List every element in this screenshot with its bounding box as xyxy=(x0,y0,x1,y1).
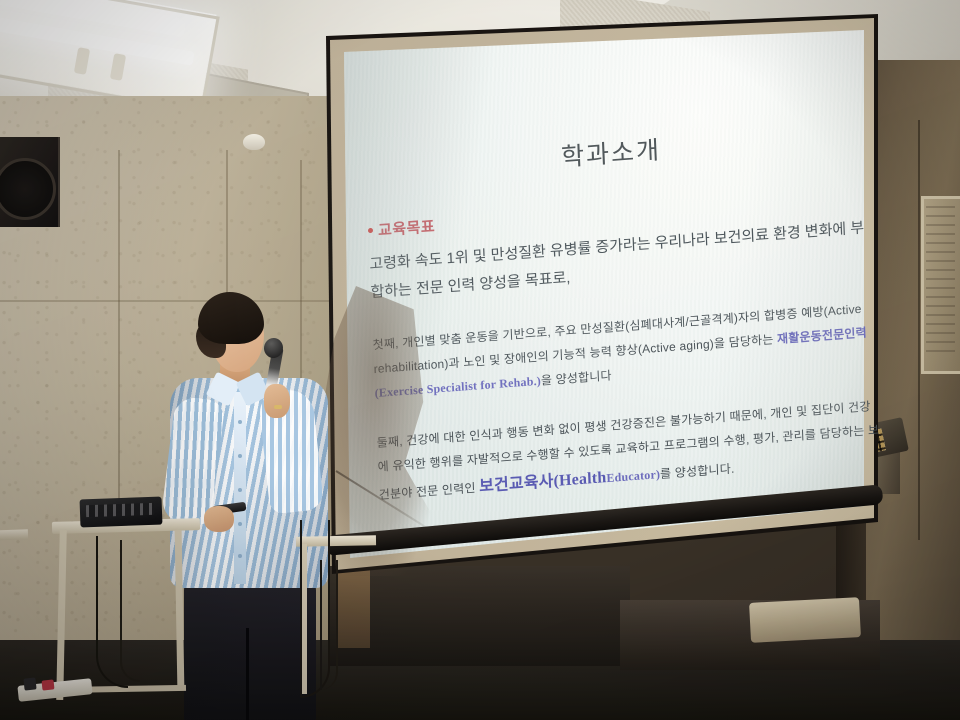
power-plug[interactable] xyxy=(23,677,36,690)
screen-lighting-vignette xyxy=(318,14,878,574)
side-table xyxy=(0,529,28,540)
shirt-button xyxy=(238,522,242,526)
mixer-controls[interactable] xyxy=(86,503,154,517)
power-plug[interactable] xyxy=(42,679,55,690)
shirt-button xyxy=(238,420,242,424)
dome-camera-icon xyxy=(243,134,265,150)
wall-seam xyxy=(918,120,920,540)
trousers xyxy=(184,580,316,720)
finger-ring xyxy=(274,405,282,409)
lecture-room-photo: 학과소개 교육목표 고령화 속도 1위 및 만성질환 유병률 증가라는 우리나라… xyxy=(0,0,960,720)
screen-stand-foot xyxy=(749,597,861,643)
dark-furniture xyxy=(330,566,630,666)
shirt-button xyxy=(238,554,242,558)
trouser-seam xyxy=(246,628,249,720)
hanging-cable xyxy=(320,560,338,690)
left-hand xyxy=(204,506,234,532)
shirt-button xyxy=(238,488,242,492)
right-hand xyxy=(264,384,290,418)
hanging-cable xyxy=(120,540,140,682)
poster-text-lines xyxy=(926,206,955,358)
wall-seam xyxy=(118,150,120,530)
shirt-button xyxy=(238,454,242,458)
projection-screen: 학과소개 교육목표 고령화 속도 1위 및 만성질환 유병률 증가라는 우리나라… xyxy=(318,14,878,574)
hair xyxy=(198,292,264,344)
